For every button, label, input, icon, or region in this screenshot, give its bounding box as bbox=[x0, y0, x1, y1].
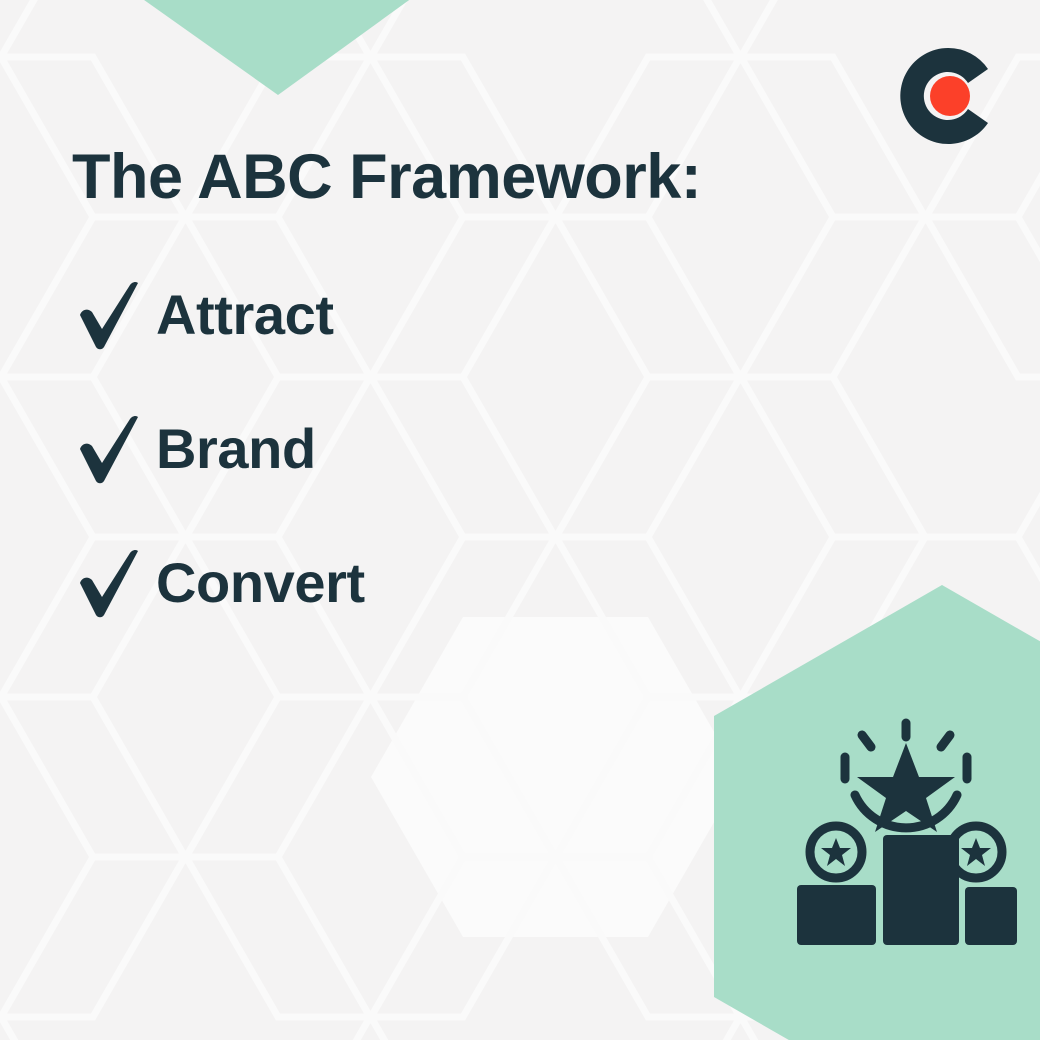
check-mark-icon bbox=[76, 413, 142, 485]
podium-bar-left bbox=[797, 885, 876, 945]
podium-bar-right bbox=[965, 887, 1017, 945]
podium-bar-center bbox=[883, 835, 959, 945]
page-title: The ABC Framework: bbox=[72, 144, 701, 210]
list-item: Attract bbox=[76, 272, 365, 358]
framework-checklist: Attract Brand Convert bbox=[76, 272, 365, 626]
list-item: Brand bbox=[76, 406, 365, 492]
green-hexagon-top bbox=[130, 0, 423, 95]
list-item-label: Convert bbox=[156, 555, 365, 611]
hexagon-fill-shape bbox=[371, 617, 740, 937]
podium-winner-icon bbox=[795, 715, 1017, 947]
letter-c-logo-icon[interactable] bbox=[896, 44, 1000, 148]
list-item-label: Brand bbox=[156, 421, 316, 477]
check-mark-icon bbox=[76, 279, 142, 351]
list-item-label: Attract bbox=[156, 287, 334, 343]
medal-star-left-icon bbox=[810, 826, 862, 878]
logo-red-dot-icon bbox=[930, 76, 970, 116]
list-item: Convert bbox=[76, 540, 365, 626]
check-mark-icon bbox=[76, 547, 142, 619]
poster-canvas: The ABC Framework: Attract Brand Convert bbox=[0, 0, 1040, 1040]
